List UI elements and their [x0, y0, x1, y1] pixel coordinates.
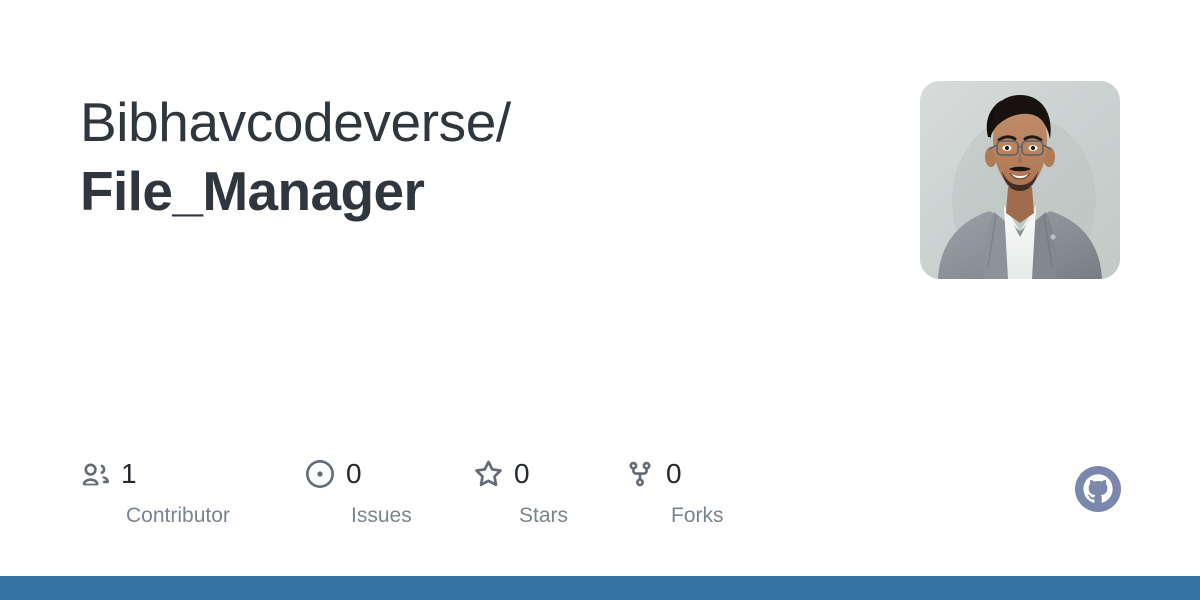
- repository-name: File_Manager: [80, 156, 880, 226]
- fork-icon: [625, 459, 655, 489]
- stat-contributors: 1 Contributor: [80, 456, 305, 529]
- repository-owner-name: Bibhavcodeverse/: [80, 88, 880, 156]
- accent-bar: [0, 576, 1200, 600]
- stat-forks-label: Forks: [671, 503, 724, 529]
- stat-contributors-label: Contributor: [126, 503, 230, 529]
- star-icon: [473, 459, 503, 489]
- stat-issues: 0 Issues: [305, 456, 473, 529]
- stat-stars-top: 0: [473, 456, 530, 492]
- stat-forks: 0 Forks: [625, 456, 745, 529]
- stat-forks-top: 0: [625, 456, 682, 492]
- owner-avatar-photo: [920, 81, 1120, 279]
- repository-stats: 1 Contributor 0 Issues: [80, 456, 745, 529]
- stat-contributors-value: 1: [121, 459, 137, 489]
- stat-forks-value: 0: [666, 459, 682, 489]
- stat-contributors-top: 1: [80, 456, 137, 492]
- repository-title: Bibhavcodeverse/ File_Manager: [80, 88, 880, 226]
- stat-issues-value: 0: [346, 459, 362, 489]
- github-logo-icon: [1075, 466, 1121, 512]
- issue-opened-icon: [305, 459, 335, 489]
- stat-stars-label: Stars: [519, 503, 568, 529]
- stat-issues-top: 0: [305, 456, 362, 492]
- github-social-preview-card: Bibhavcodeverse/ File_Manager: [0, 0, 1200, 600]
- people-icon: [80, 459, 110, 489]
- stat-stars-value: 0: [514, 459, 530, 489]
- stat-issues-label: Issues: [351, 503, 412, 529]
- stat-stars: 0 Stars: [473, 456, 625, 529]
